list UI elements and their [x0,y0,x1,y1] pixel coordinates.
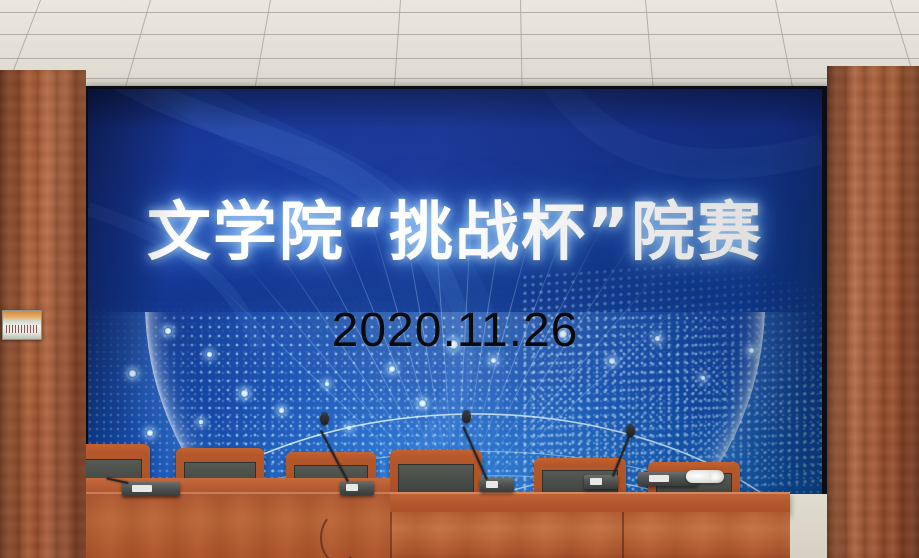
conference-hall-photo: 文学院“挑战杯”院赛 2020.11.26 [0,0,919,558]
paper-cups [686,470,724,483]
display-date: 2020.11.26 [88,307,822,355]
microphone-capsule [320,412,329,425]
ceiling [0,0,919,96]
microphone-cable [320,512,358,558]
right-wall-wood-panel [827,66,919,558]
side-wall-strip [790,494,830,558]
led-display-screen[interactable]: 文学院“挑战杯”院赛 2020.11.26 [88,89,822,494]
gooseneck-microphone [340,481,374,495]
gooseneck-microphone [584,475,618,489]
display-title: 文学院“挑战杯”院赛 [88,201,822,265]
wall-control-panel[interactable] [2,310,42,340]
gooseneck-microphone [122,482,180,496]
microphone-capsule [462,410,471,423]
microphone-capsule [626,424,635,437]
